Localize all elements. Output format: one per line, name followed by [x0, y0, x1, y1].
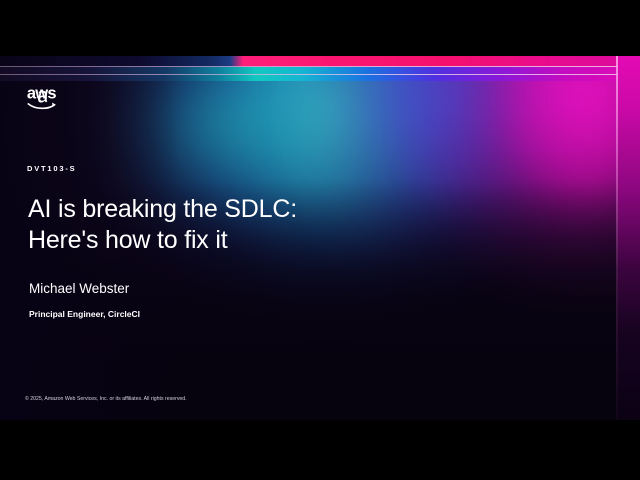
letterbox-top-bar: [0, 0, 640, 56]
speaker-name: Michael Webster: [29, 281, 129, 296]
right-magenta-edge-band: [618, 56, 640, 420]
accent-rule-line-upper: [0, 66, 640, 67]
session-code-label: DVT103-S: [27, 164, 76, 173]
video-frame: aws DVT103-S AI is breaking the SDLC: He…: [0, 0, 640, 480]
presentation-slide: aws DVT103-S AI is breaking the SDLC: He…: [0, 56, 640, 420]
accent-rule-line-lower: [0, 74, 640, 75]
svg-text:aws: aws: [27, 85, 57, 103]
letterbox-bottom-bar: [0, 420, 640, 480]
aws-logo: aws: [26, 82, 84, 116]
page-title: AI is breaking the SDLC: Here's how to f…: [28, 194, 448, 256]
right-edge-highlight-line: [616, 56, 618, 420]
speaker-role: Principal Engineer, CircleCI: [29, 309, 140, 319]
copyright-notice: © 2025, Amazon Web Services, Inc. or its…: [25, 396, 187, 402]
